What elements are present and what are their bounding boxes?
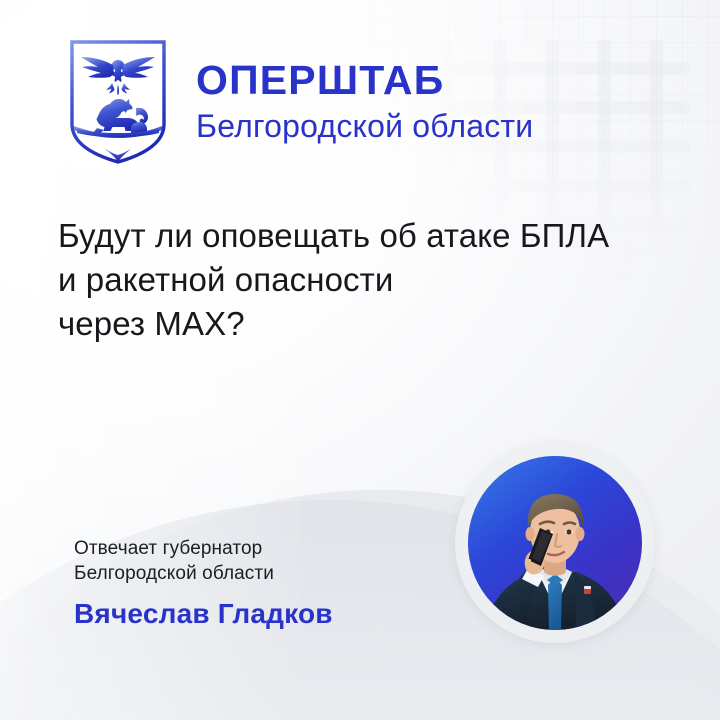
portrait-photo (468, 456, 642, 630)
answerer-role-line-2: Белгородской области (74, 561, 414, 586)
question-line-1: Будут ли оповещать об атаке БПЛА (58, 214, 668, 258)
answerer-name: Вячеслав Гладков (74, 598, 414, 630)
info-card: ОПЕРШТАБ Белгородской области Будут ли о… (0, 0, 720, 720)
answerer-block: Отвечает губернатор Белгородской области… (74, 536, 414, 630)
question-line-3: через MAX? (58, 302, 668, 346)
belgorod-coat-of-arms-icon (66, 38, 170, 164)
brand-text: ОПЕРШТАБ Белгородской области (196, 60, 533, 142)
question-text: Будут ли оповещать об атаке БПЛА и ракет… (58, 214, 668, 346)
brand-title: ОПЕРШТАБ (196, 60, 533, 101)
brand-header: ОПЕРШТАБ Белгородской области (66, 38, 533, 164)
governor-portrait (455, 443, 655, 643)
answerer-role-line-1: Отвечает губернатор (74, 536, 414, 561)
brand-subtitle: Белгородской области (196, 110, 533, 142)
question-line-2: и ракетной опасности (58, 258, 668, 302)
